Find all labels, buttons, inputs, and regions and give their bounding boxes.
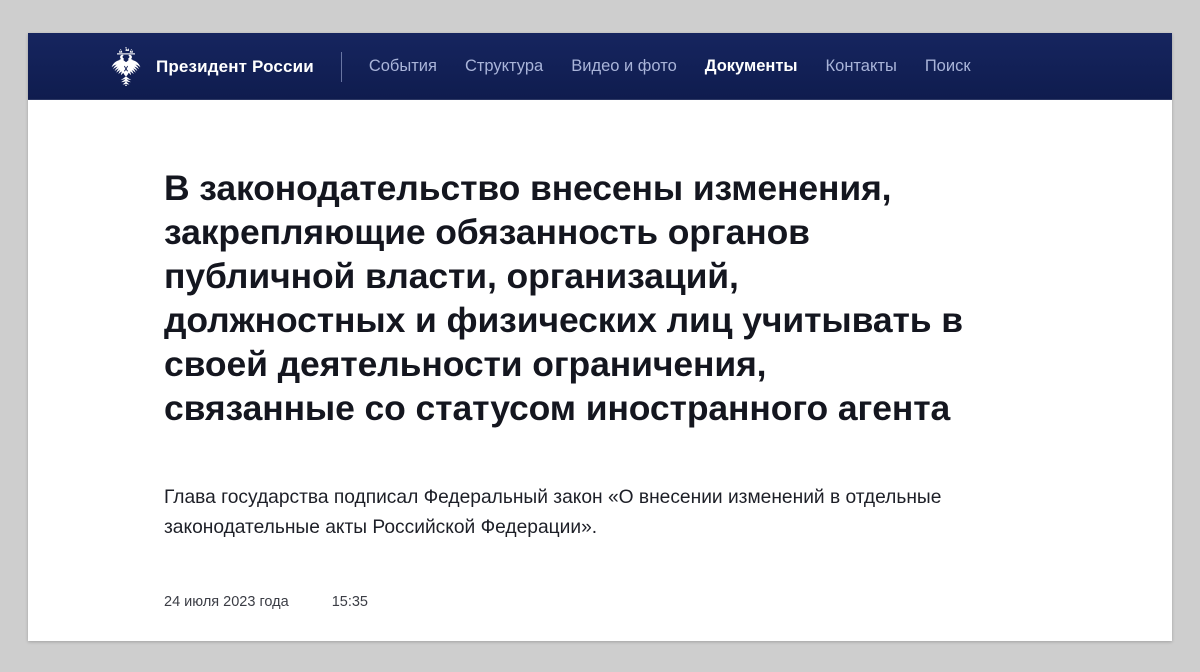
nav-item-search[interactable]: Поиск [925, 51, 971, 82]
article: В законодательство внесены изменения, за… [28, 100, 1172, 610]
article-meta: 24 июля 2023 года 15:35 [164, 543, 1062, 610]
nav-item-structure[interactable]: Структура [465, 51, 543, 82]
brand-home-link[interactable]: Президент России [109, 47, 314, 87]
page-card: Президент России События Структура Видео… [28, 33, 1172, 641]
nav-item-events[interactable]: События [369, 51, 437, 82]
header-underline [28, 99, 1172, 100]
publish-date: 24 июля 2023 года [164, 594, 289, 610]
nav-item-contacts[interactable]: Контакты [826, 51, 897, 82]
page-title: В законодательство внесены изменения, за… [164, 166, 964, 430]
publish-time: 15:35 [332, 594, 368, 610]
nav-item-documents[interactable]: Документы [705, 51, 798, 82]
site-header: Президент России События Структура Видео… [28, 33, 1172, 100]
double-headed-eagle-emblem-icon [109, 47, 143, 87]
article-lead: Глава государства подписал Федеральный з… [164, 430, 979, 543]
brand-name: Президент России [156, 57, 314, 77]
nav-item-video-photo[interactable]: Видео и фото [571, 51, 677, 82]
main-navigation: События Структура Видео и фото Документы… [342, 51, 971, 82]
